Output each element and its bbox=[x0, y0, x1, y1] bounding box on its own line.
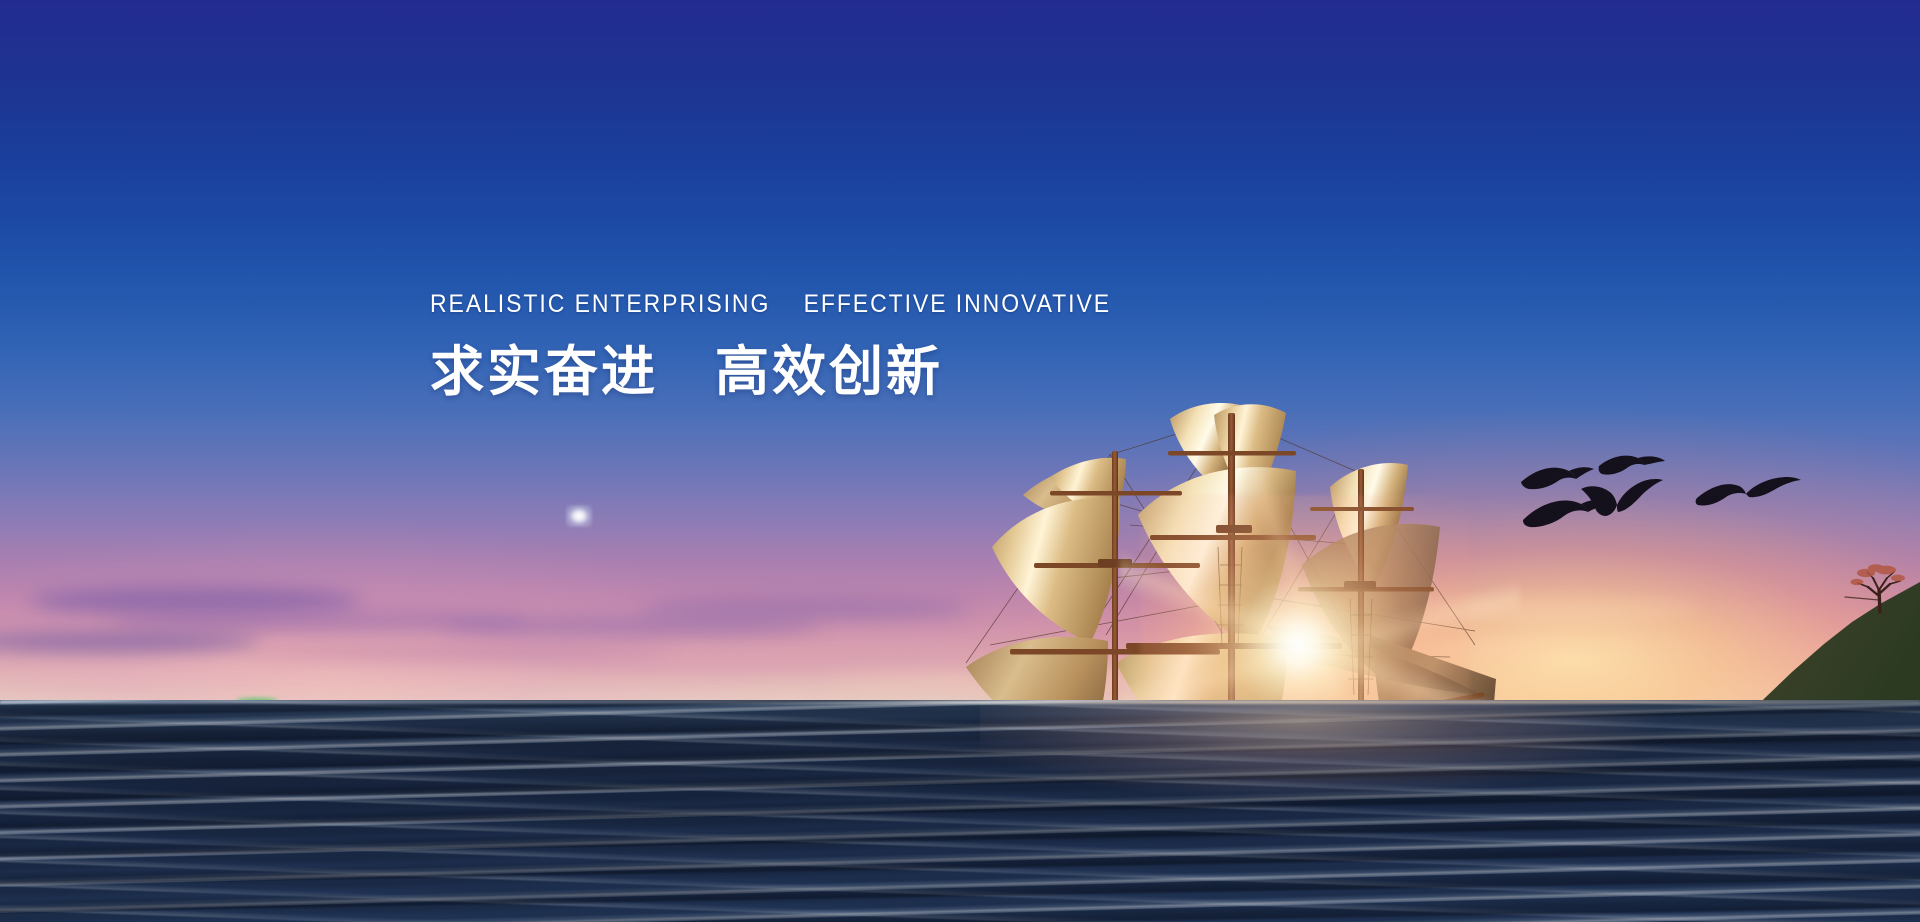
bird-icon bbox=[1599, 456, 1644, 475]
bird-icon bbox=[1581, 486, 1617, 516]
bird-icon bbox=[1617, 479, 1663, 512]
banner-copy: REALISTIC ENTERPRISING EFFECTIVE INNOVAT… bbox=[430, 292, 1190, 402]
cloud-band bbox=[0, 668, 560, 683]
sail bbox=[992, 498, 1120, 643]
flying-birds-group bbox=[1515, 450, 1805, 550]
ocean bbox=[0, 700, 1920, 922]
island-with-tree bbox=[1740, 540, 1920, 720]
bird-icon bbox=[1523, 501, 1588, 528]
sun-reflection bbox=[980, 700, 1680, 850]
island-hill bbox=[1744, 582, 1920, 718]
headline-english: REALISTIC ENTERPRISING EFFECTIVE INNOVAT… bbox=[430, 292, 1129, 317]
bird-icon bbox=[1696, 484, 1746, 505]
banner-stage: REALISTIC ENTERPRISING EFFECTIVE INNOVAT… bbox=[0, 0, 1920, 922]
bird-icon bbox=[1746, 477, 1801, 497]
headline-chinese: 求实奋进 高效创新 bbox=[430, 342, 1190, 402]
bird-icon bbox=[1521, 468, 1576, 490]
cloud-band bbox=[640, 598, 970, 620]
star-glint-icon bbox=[566, 505, 592, 527]
